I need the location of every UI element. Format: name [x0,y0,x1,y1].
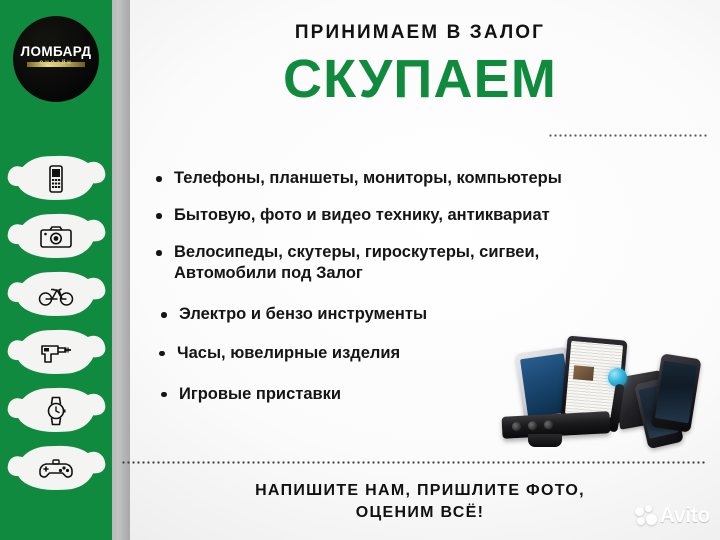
sidebar-item-cameras [0,208,112,266]
kicker-text: ПРИНИМАЕМ В ЗАЛОГ [130,22,710,44]
camera-icon [40,225,72,249]
logo-title: ЛОМБАРД [13,45,99,59]
sidebar-item-phones [0,150,112,208]
avito-watermark: Avito [635,504,710,528]
page-title: СКУПАЕМ [130,52,710,106]
footer-line-1: НАПИШИТЕ НАМ, ПРИШЛИТЕ ФОТО, [130,480,710,502]
dotted-divider-top [548,134,708,137]
sidebar-item-watches [0,382,112,440]
sidebar-gray-strip [112,0,130,540]
list-item: Бытовую, фото и видео технику, антиквари… [152,205,632,226]
smartphone-device [650,353,701,432]
list-item: Велосипеды, скутеры, гироскутеры, сигвеи… [152,242,632,284]
sidebar-item-consoles [0,440,112,498]
list-item-line-2: Автомобили под Залог [174,264,363,282]
sidebar-item-bicycles [0,266,112,324]
sidebar-item-tools [0,324,112,382]
sensor-bar-base [528,434,562,447]
list-item-line-1: Велосипеды, скутеры, гироскутеры, сигвеи… [174,243,539,261]
bicycle-icon [38,283,74,307]
sidebar-icon-list [0,150,112,498]
list-item: Электро и бензо инструменты [152,304,632,325]
avito-logo-icon [635,505,657,527]
avito-wordmark: Avito [660,504,710,528]
mobile-phone-icon [47,165,65,193]
list-item: Телефоны, планшеты, мониторы, компьютеры [152,168,632,189]
device-collage-image [498,336,710,458]
dotted-divider-bottom [121,461,705,464]
footer-line-2: ОЦЕНИМ ВСЁ! [130,502,710,524]
gamepad-icon [38,457,74,481]
wristwatch-icon [44,396,68,426]
advertisement-poster: ЛОМБАРД онлайн [0,0,720,540]
logo: ЛОМБАРД онлайн [13,16,99,102]
drill-icon [39,341,73,365]
footer-call-to-action: НАПИШИТЕ НАМ, ПРИШЛИТЕ ФОТО, ОЦЕНИМ ВСЁ! [130,480,710,523]
logo-subtitle: онлайн [13,60,99,67]
